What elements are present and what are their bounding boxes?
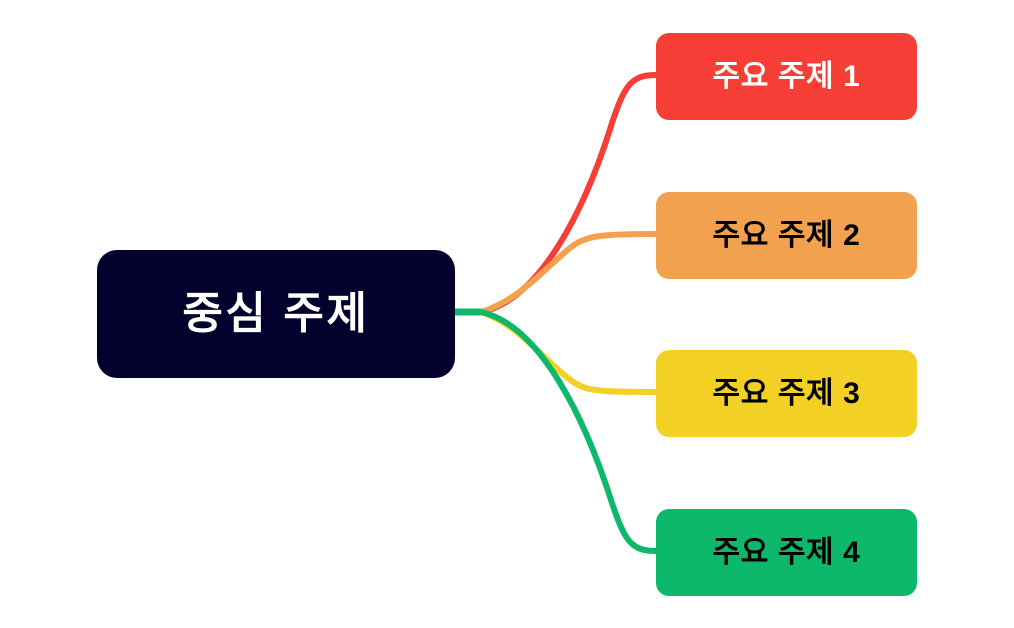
mindmap-canvas: 중심 주제 주요 주제 1 주요 주제 2 주요 주제 3 주요 주제 4 — [0, 0, 1014, 628]
branch-node-3-label: 주요 주제 3 — [713, 379, 861, 409]
branch-node-main-topic-1[interactable]: 주요 주제 1 — [656, 33, 917, 120]
connector-branch-1 — [481, 75, 656, 312]
branch-node-main-topic-3[interactable]: 주요 주제 3 — [656, 350, 917, 437]
branch-node-1-label: 주요 주제 1 — [713, 62, 861, 92]
branch-node-4-label: 주요 주제 4 — [713, 538, 861, 568]
branch-node-main-topic-4[interactable]: 주요 주제 4 — [656, 509, 917, 596]
connector-branch-2 — [481, 234, 656, 312]
root-node-label: 중심 주제 — [182, 292, 369, 336]
connector-branch-4 — [481, 312, 656, 551]
root-node-central-topic[interactable]: 중심 주제 — [97, 250, 455, 378]
branch-node-main-topic-2[interactable]: 주요 주제 2 — [656, 192, 917, 279]
branch-node-2-label: 주요 주제 2 — [713, 221, 861, 251]
